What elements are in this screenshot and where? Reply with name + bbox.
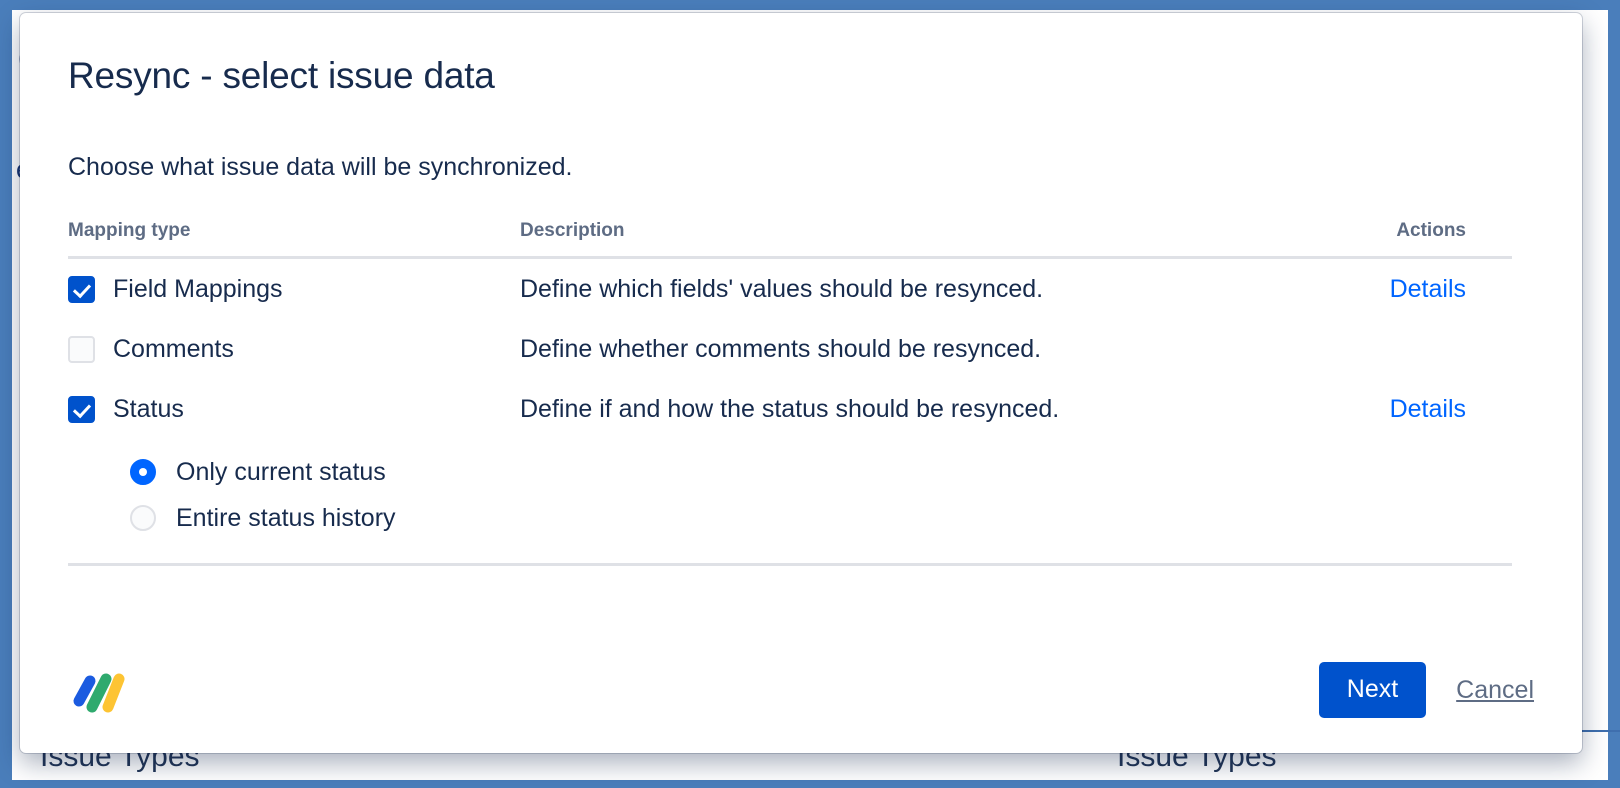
status-options-row: Only current status Entire status histor… (68, 439, 1512, 541)
field-mappings-checkbox[interactable] (68, 276, 95, 303)
status-options-cell: Only current status Entire status histor… (68, 439, 1512, 541)
column-header-actions: Actions (1280, 220, 1512, 258)
resync-select-issue-data-dialog: Resync - select issue data Choose what i… (20, 13, 1582, 753)
column-header-mapping-type: Mapping type (68, 220, 520, 258)
field-mappings-description: Define which fields' values should be re… (520, 258, 1280, 320)
radio-only-current-status-indicator[interactable] (130, 459, 156, 485)
mapping-type-cell: Comments (68, 319, 520, 379)
dialog-subtitle: Choose what issue data will be synchroni… (68, 97, 1534, 182)
table-header-row: Mapping type Description Actions (68, 220, 1512, 258)
status-actions-cell: Details (1280, 379, 1512, 439)
comments-description: Define whether comments should be resync… (520, 319, 1280, 379)
table-body: Field Mappings Define which fields' valu… (68, 258, 1512, 542)
field-mappings-actions-cell: Details (1280, 258, 1512, 320)
status-checkbox[interactable] (68, 396, 95, 423)
radio-only-current-status[interactable]: Only current status (130, 449, 1512, 495)
status-label: Status (113, 395, 184, 424)
mapping-type-table: Mapping type Description Actions Field M… (68, 220, 1512, 541)
status-details-link[interactable]: Details (1390, 395, 1466, 423)
field-mappings-label: Field Mappings (113, 275, 283, 304)
mapping-type-cell: Field Mappings (68, 258, 520, 320)
radio-entire-status-history[interactable]: Entire status history (130, 495, 1512, 541)
next-button[interactable]: Next (1319, 662, 1426, 718)
radio-entire-status-history-label: Entire status history (176, 504, 396, 533)
mapping-type-cell: Status (68, 379, 520, 439)
dialog-footer: Next Cancel (68, 659, 1534, 721)
comments-actions-cell (1280, 319, 1512, 379)
cancel-link[interactable]: Cancel (1456, 676, 1534, 705)
dialog-title: Resync - select issue data (68, 13, 1534, 97)
table-header: Mapping type Description Actions (68, 220, 1512, 258)
radio-only-current-status-label: Only current status (176, 458, 386, 487)
footer-actions: Next Cancel (1319, 662, 1534, 718)
table-bottom-divider (68, 563, 1512, 566)
status-description: Define if and how the status should be r… (520, 379, 1280, 439)
exalate-logo (68, 667, 126, 713)
column-header-description: Description (520, 220, 1280, 258)
comments-label: Comments (113, 335, 234, 364)
status-radio-group: Only current status Entire status histor… (130, 445, 1512, 541)
comments-checkbox[interactable] (68, 336, 95, 363)
field-mappings-details-link[interactable]: Details (1390, 275, 1466, 303)
radio-entire-status-history-indicator[interactable] (130, 505, 156, 531)
table-row: Field Mappings Define which fields' valu… (68, 258, 1512, 320)
table-row: Comments Define whether comments should … (68, 319, 1512, 379)
table-row: Status Define if and how the status shou… (68, 379, 1512, 439)
